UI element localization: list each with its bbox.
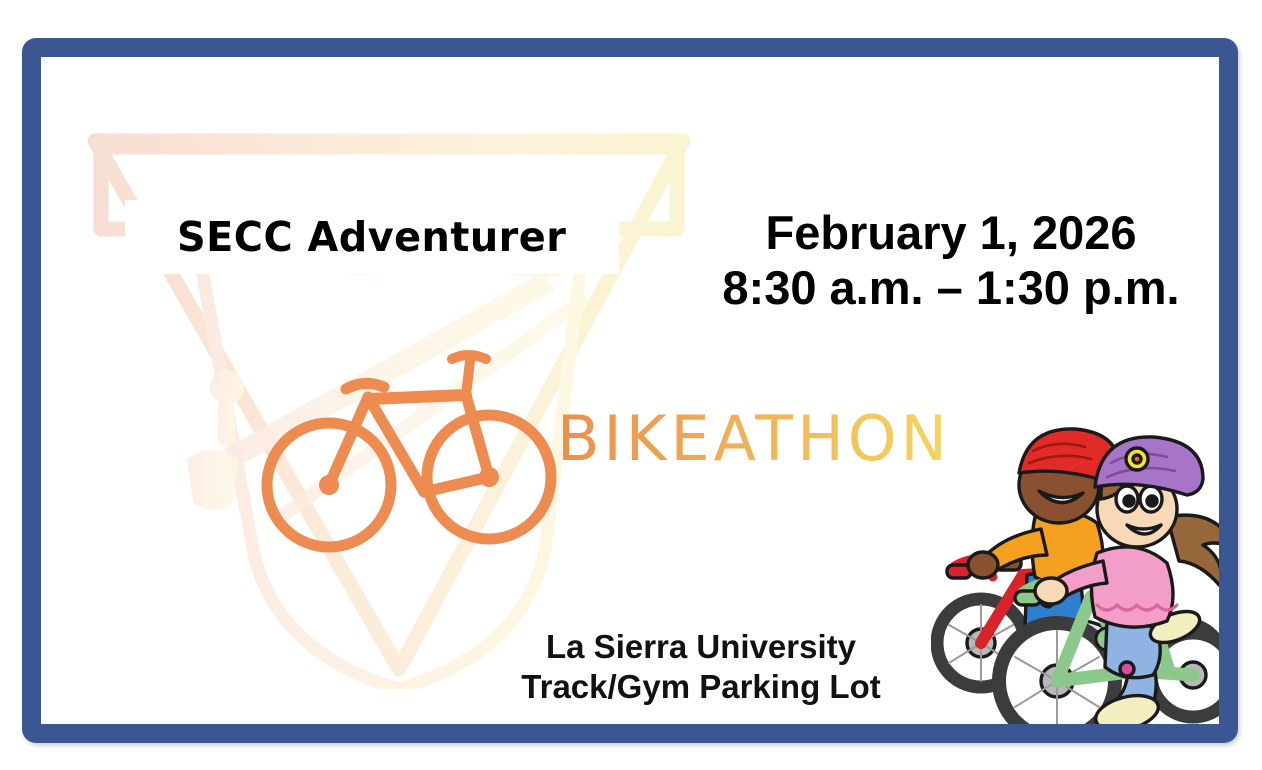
event-date: February 1, 2026 [671, 205, 1219, 260]
bicycle-head-tube [466, 395, 489, 477]
bicycle-top-tube [368, 395, 466, 399]
two-kids-riding-bikes-illustration [931, 425, 1219, 724]
event-time: 8:30 a.m. – 1:30 p.m. [671, 260, 1219, 315]
shield-torch-head [210, 370, 244, 404]
bikeathon-wordmark-text: BIKEATHON [557, 405, 951, 475]
bicycle-rear-hub [319, 475, 339, 495]
event-datetime-block: February 1, 2026 8:30 a.m. – 1:30 p.m. [671, 205, 1219, 316]
bicycle-seat-tube [329, 397, 368, 485]
page-title: SECC Adventurer [177, 213, 566, 261]
bicycle-chain-stay [424, 477, 489, 492]
helmet-flower-icon [1126, 448, 1148, 470]
flyer-canvas: SECC Adventurer BIKEATHON February 1, 20… [41, 57, 1219, 724]
flyer-border-frame: SECC Adventurer BIKEATHON February 1, 20… [22, 38, 1238, 743]
bicycle-stem [466, 361, 470, 395]
bicycle-front-hub [479, 467, 499, 487]
shield-torch-base [187, 450, 239, 510]
event-venue: La Sierra University [441, 627, 961, 667]
shield-torch-stem [218, 401, 235, 445]
event-location-block: La Sierra University Track/Gym Parking L… [441, 627, 961, 708]
bicycle-seat [346, 383, 384, 389]
event-venue-detail: Track/Gym Parking Lot [441, 667, 961, 707]
banner-title-box: SECC Adventurer [125, 200, 619, 274]
orange-bicycle-icon [256, 347, 566, 562]
